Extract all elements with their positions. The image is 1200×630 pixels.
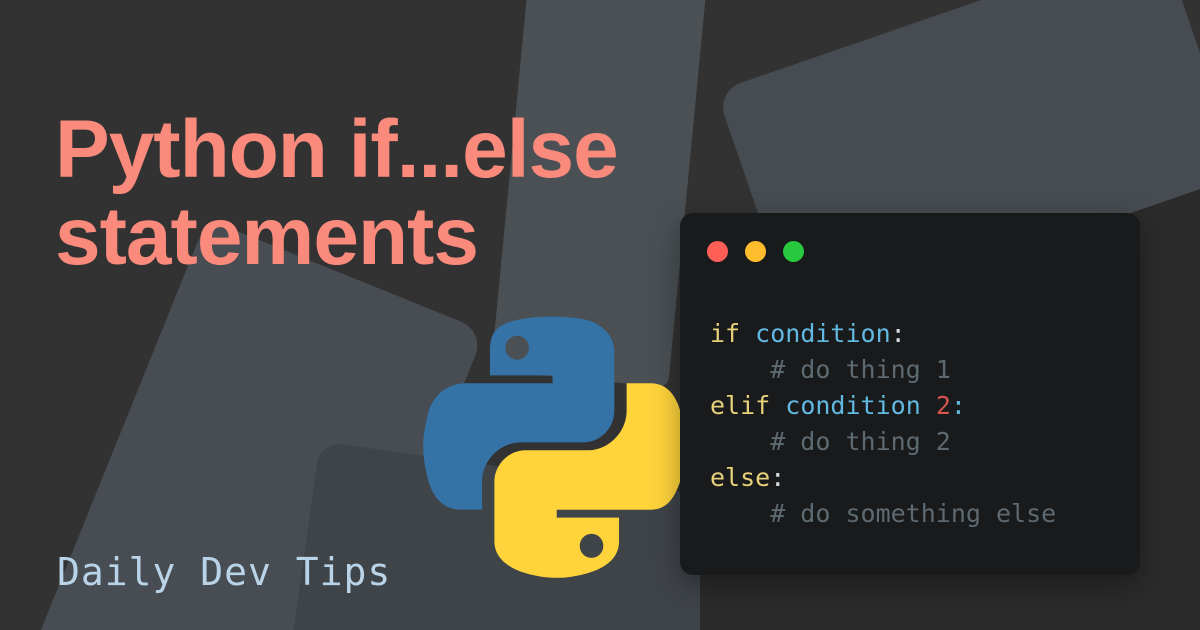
close-button[interactable] <box>707 241 728 262</box>
code-line: # do thing 1 <box>710 352 1130 388</box>
code-token-name: : <box>951 391 966 420</box>
code-block: if condition: # do thing 1elif condition… <box>710 316 1130 532</box>
code-token-num: 2 <box>936 391 951 420</box>
brand-wordmark: Daily Dev Tips <box>57 550 391 594</box>
code-token-comment: # do something else <box>710 499 1056 528</box>
minimize-button[interactable] <box>745 241 766 262</box>
code-token-comment: # do thing 2 <box>710 427 951 456</box>
code-token-punct <box>740 319 755 348</box>
code-token-name: condition <box>755 319 890 348</box>
code-token-kw: else <box>710 463 770 492</box>
code-token-punct <box>770 391 785 420</box>
code-token-kw: if <box>710 319 740 348</box>
code-line: # do something else <box>710 496 1130 532</box>
code-token-punct: : <box>891 319 906 348</box>
code-line: else: <box>710 460 1130 496</box>
code-window: if condition: # do thing 1elif condition… <box>680 213 1140 575</box>
code-token-punct <box>921 391 936 420</box>
social-card: Python if...else statements if condition… <box>0 0 1200 630</box>
code-line: # do thing 2 <box>710 424 1130 460</box>
python-logo <box>408 303 696 591</box>
window-traffic-lights <box>707 241 804 262</box>
code-token-punct: : <box>770 463 785 492</box>
code-token-name: condition <box>785 391 920 420</box>
maximize-button[interactable] <box>783 241 804 262</box>
page-title: Python if...else statements <box>55 107 775 281</box>
code-line: if condition: <box>710 316 1130 352</box>
code-token-comment: # do thing 1 <box>710 355 951 384</box>
code-line: elif condition 2: <box>710 388 1130 424</box>
code-token-kw: elif <box>710 391 770 420</box>
